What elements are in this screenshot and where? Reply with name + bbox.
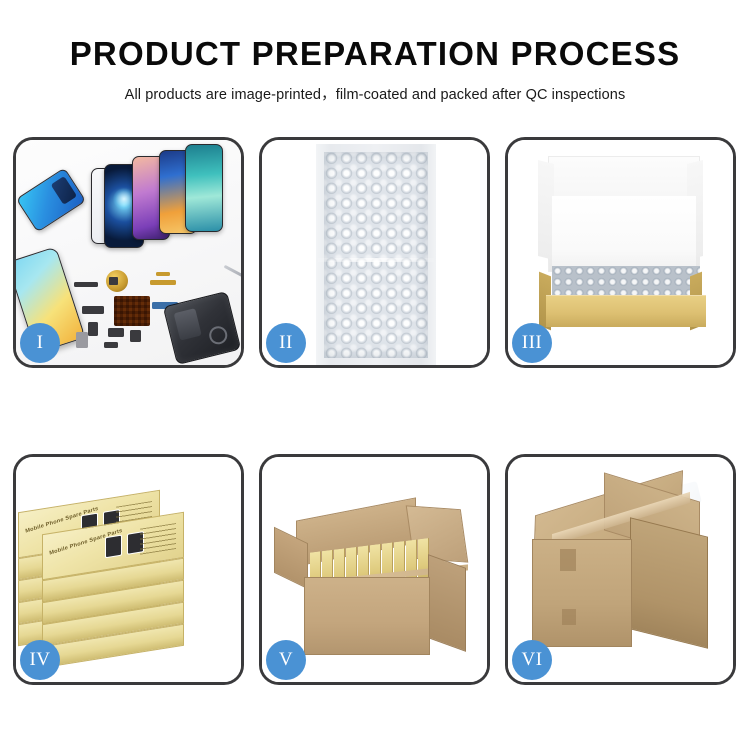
inner-box-front-panel — [546, 295, 706, 327]
phone-screen-teal — [185, 144, 223, 232]
step-badge-6: VI — [512, 640, 552, 680]
volume-flex-part — [156, 272, 170, 276]
bracket-part — [104, 342, 118, 348]
step-badge-2: II — [266, 323, 306, 363]
sealed-carton-side-panel — [630, 517, 708, 648]
carton-scuff-lower — [562, 609, 576, 625]
process-step-panel-6: VI — [505, 454, 736, 685]
step-badge-5: V — [266, 640, 306, 680]
step-badge-4: IV — [20, 640, 60, 680]
process-step-panel-5: V — [259, 454, 490, 685]
sim-tray-part — [76, 332, 88, 348]
page-subtitle: All products are image-printed，film-coat… — [0, 83, 750, 104]
speaker-part — [106, 270, 128, 292]
taptic-engine-part — [88, 322, 98, 336]
box-artwork-screen-c — [105, 535, 122, 559]
bubble-wrap-texture — [324, 152, 428, 358]
carton-side-panel — [428, 554, 466, 652]
process-step-grid: I II III — [13, 137, 737, 685]
header: PRODUCT PREPARATION PROCESS All products… — [0, 36, 750, 104]
carton-scuff-upper — [560, 549, 576, 571]
product-preparation-infographic: PRODUCT PREPARATION PROCESS All products… — [0, 0, 750, 750]
button-part — [130, 330, 141, 342]
spare-parts-group — [74, 270, 241, 365]
camera-flex-part — [82, 306, 104, 314]
step-badge-3: III — [512, 323, 552, 363]
logic-board-part — [114, 296, 150, 326]
step-badge-1: I — [20, 323, 60, 363]
process-step-panel-3: III — [505, 137, 736, 368]
carton-front-panel — [304, 577, 430, 655]
box-spec-text-front — [140, 523, 176, 555]
charging-port-part — [108, 328, 124, 337]
process-step-panel-1: I — [13, 137, 244, 368]
power-flex-part — [150, 280, 176, 285]
foam-padding — [552, 196, 696, 272]
process-step-panel-2: II — [259, 137, 490, 368]
process-step-panel-4: Mobile Phone Spare Parts Mobile Phone Sp… — [13, 454, 244, 685]
sealed-carton-front-panel — [532, 539, 632, 647]
bubble-wrap-seam — [318, 258, 434, 262]
page-title: PRODUCT PREPARATION PROCESS — [0, 36, 750, 73]
earpiece-part — [74, 282, 98, 287]
